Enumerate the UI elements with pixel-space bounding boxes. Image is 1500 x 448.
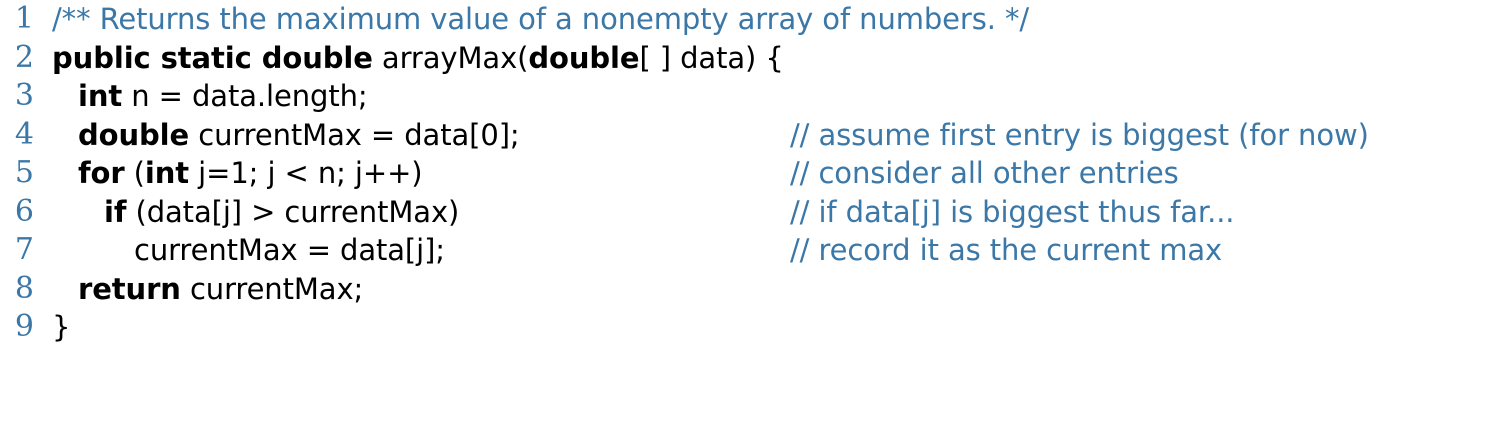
keyword: return [78, 272, 181, 306]
code-text: currentMax; [181, 272, 363, 306]
keyword: for [78, 156, 125, 190]
line-content: for (int j=1; j < n; j++) [52, 154, 423, 193]
line-number: 3 [0, 77, 34, 116]
line-number: 9 [0, 308, 34, 347]
line-number: 2 [0, 39, 34, 78]
line-number: 7 [0, 231, 34, 270]
code-line-8: 8 return currentMax; [0, 270, 1500, 309]
keyword: double [528, 41, 639, 75]
code-text: ( [125, 156, 145, 190]
line-content: currentMax = data[j]; [52, 231, 445, 270]
line-content: int n = data.length; [52, 77, 368, 116]
code-line-4: 4 double currentMax = data[0]; // assume… [0, 116, 1500, 155]
code-listing: 1 /** Returns the maximum value of a non… [0, 0, 1500, 448]
keyword: int [145, 156, 189, 190]
keyword: if [104, 195, 126, 229]
line-comment: // if data[j] is biggest thus far... [790, 193, 1234, 232]
code-text: arrayMax( [373, 41, 529, 75]
line-content: return currentMax; [52, 270, 363, 309]
line-comment: // record it as the current max [790, 231, 1222, 270]
code-text: [ ] data) { [639, 41, 783, 75]
line-number: 4 [0, 116, 34, 155]
code-line-5: 5 for (int j=1; j < n; j++) // consider … [0, 154, 1500, 193]
line-number: 1 [0, 0, 34, 39]
keyword: int [78, 79, 122, 113]
line-content: public static double arrayMax(double[ ] … [52, 39, 784, 78]
line-content: if (data[j] > currentMax) [52, 193, 459, 232]
code-line-6: 6 if (data[j] > currentMax) // if data[j… [0, 193, 1500, 232]
line-comment: // consider all other entries [790, 154, 1179, 193]
line-comment: // assume first entry is biggest (for no… [790, 116, 1369, 155]
line-content: /** Returns the maximum value of a nonem… [52, 0, 1029, 39]
code-line-2: 2 public static double arrayMax(double[ … [0, 39, 1500, 78]
code-line-9: 9 } [0, 308, 1500, 347]
code-text: (data[j] > currentMax) [126, 195, 459, 229]
code-line-7: 7 currentMax = data[j]; // record it as … [0, 231, 1500, 270]
line-number: 5 [0, 154, 34, 193]
line-number: 8 [0, 270, 34, 309]
code-text: n = data.length; [122, 79, 367, 113]
line-content: } [52, 308, 70, 347]
code-line-1: 1 /** Returns the maximum value of a non… [0, 0, 1500, 39]
code-line-3: 3 int n = data.length; [0, 77, 1500, 116]
code-text: currentMax = data[0]; [189, 118, 520, 152]
keyword: public static double [52, 41, 373, 75]
line-content: double currentMax = data[0]; [52, 116, 520, 155]
code-text: j=1; j < n; j++) [189, 156, 422, 190]
line-number: 6 [0, 193, 34, 232]
keyword: double [78, 118, 189, 152]
